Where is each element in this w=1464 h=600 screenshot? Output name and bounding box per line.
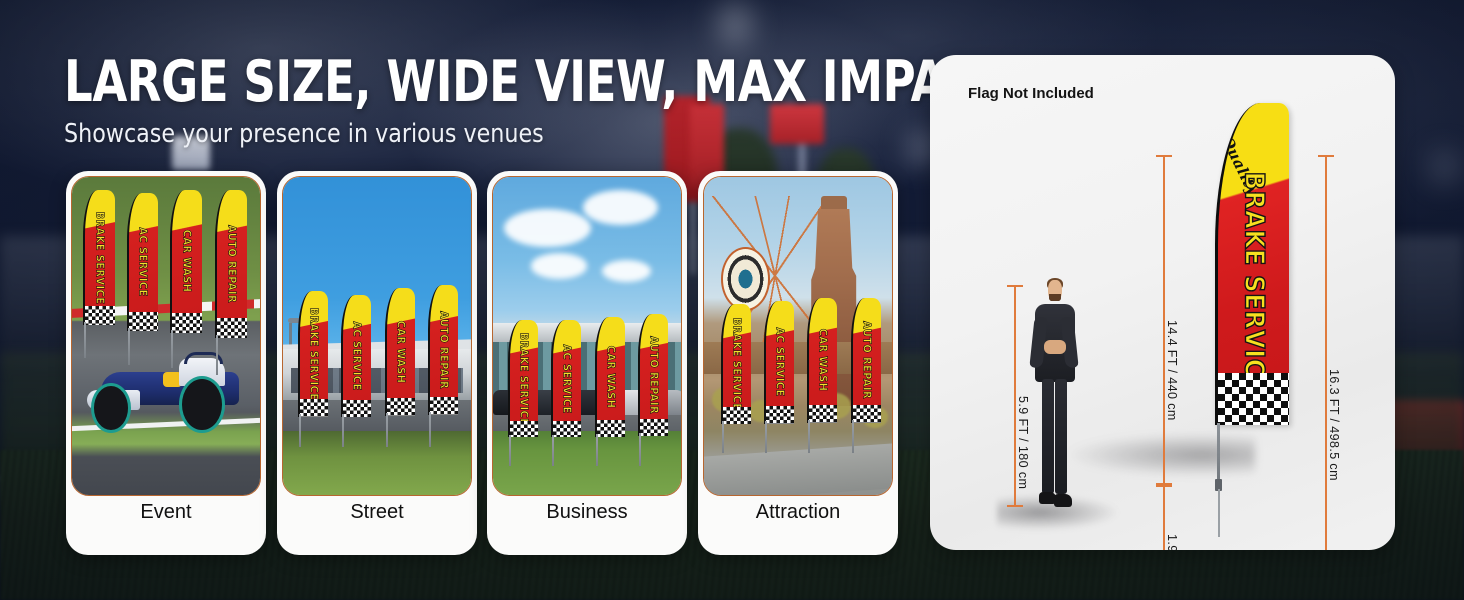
mini-flag-group-event: BRAKE SERVICE BRAKE SERVICE AC SERVICE [72, 177, 260, 495]
page-subtitle: Showcase your presence in various venues [64, 117, 544, 151]
mini-flag-checker [723, 407, 751, 424]
mini-flag-checker [129, 312, 159, 331]
mini-flag-text: CAR WASH [604, 346, 617, 409]
mini-flag-banner: AUTO REPAIR [428, 285, 458, 415]
mini-flag-checker [430, 397, 458, 415]
mini-flag-pole [552, 435, 554, 466]
mini-flag: AUTO REPAIR [851, 298, 881, 451]
mini-flag-checker [217, 318, 247, 339]
mini-flag-banner: AUTO REPAIR [215, 190, 247, 339]
mini-flag-banner: CAR WASH [385, 288, 415, 416]
flag-pole-lower [1218, 489, 1220, 537]
flag-main-text: BRAKE SERVICE [1238, 172, 1269, 395]
mini-flag-banner: BRAKE SERVICE BRAKE SERVICE [83, 190, 115, 326]
mini-flag-text: AC SERVICE [774, 328, 787, 397]
mini-flag-checker [853, 405, 881, 423]
venue-card-label: Attraction [698, 501, 898, 524]
mini-flag-banner: BRAKE SERVICE [298, 291, 328, 416]
dimension-line [1325, 155, 1327, 550]
mini-flag: CAR WASH [385, 288, 415, 444]
flag-checker-band [1218, 373, 1289, 425]
mini-flag-text: AC SERVICE [561, 344, 574, 413]
flag-banner: Quality BRAKE SERVICE [1215, 103, 1289, 425]
mini-flag-pole [722, 421, 724, 453]
mini-flag-pole [429, 412, 431, 447]
mini-flag-text: CAR WASH [817, 329, 830, 392]
mini-flag: AUTO REPAIR [638, 314, 668, 463]
person-hands [1044, 340, 1066, 354]
mini-flag-checker [510, 421, 538, 437]
mini-flag-banner: CAR WASH [595, 317, 625, 437]
mini-flag-pole [765, 421, 767, 454]
mini-flag-pole [386, 413, 388, 447]
dimension-label: 1.91 FT / 58.5 cm [1165, 534, 1179, 550]
mini-flag-group-attraction: BRAKE SERVICE AC SERVICE [704, 177, 892, 495]
flag-not-included-note: Flag Not Included [968, 85, 1094, 102]
mini-flag-group-business: BRAKE SERVICE AC SERVICE [493, 177, 681, 495]
product-feature-banner: LARGE SIZE, WIDE VIEW, MAX IMPACT Showca… [0, 0, 1464, 600]
mini-flag-pole [596, 434, 598, 466]
mini-flag-banner: AC SERVICE [127, 193, 159, 331]
mini-flag: BRAKE SERVICE BRAKE SERVICE [83, 190, 115, 355]
mini-flag-text: AUTO REPAIR [647, 336, 660, 414]
venue-card-label: Business [487, 501, 687, 524]
product-feather-flag: Quality BRAKE SERVICE [1215, 103, 1289, 503]
venue-card-event[interactable]: BRAKE SERVICE BRAKE SERVICE AC SERVICE [66, 171, 266, 555]
mini-flag-text: AUTO REPAIR [860, 321, 873, 399]
mini-flag-text: CAR WASH [180, 230, 193, 293]
venue-card-business[interactable]: BRAKE SERVICE AC SERVICE [487, 171, 687, 555]
mini-flag-pole [509, 435, 511, 466]
mini-flag-banner: AUTO REPAIR [638, 314, 668, 437]
mini-flag-checker [387, 398, 415, 416]
mini-flag-banner: AC SERVICE [551, 320, 581, 437]
mini-flag-text: AC SERVICE [137, 227, 150, 296]
mini-flag: BRAKE SERVICE [508, 320, 538, 463]
mini-flag-text: CAR WASH [394, 321, 407, 384]
mini-flag-checker [597, 420, 625, 437]
mini-flag-checker [809, 405, 837, 423]
page-title: LARGE SIZE, WIDE VIEW, MAX IMPACT [64, 48, 1008, 116]
person-shoe [1054, 494, 1072, 507]
venue-card-attraction[interactable]: BRAKE SERVICE AC SERVICE [698, 171, 898, 555]
mini-flag-banner: AUTO REPAIR [851, 298, 881, 423]
dimension-cap [1007, 285, 1023, 287]
venue-card-label: Event [66, 501, 266, 524]
flag-shadow [1065, 433, 1255, 477]
dimension-cap [1156, 485, 1172, 487]
mini-flag: CAR WASH [807, 298, 837, 451]
mini-flag-pole [299, 414, 301, 448]
mini-flag: CAR WASH [595, 317, 625, 463]
dimension-cap [1156, 155, 1172, 157]
mini-flag-text: BRAKE SERVICE [94, 211, 107, 304]
mini-flag-text: AUTO REPAIR [437, 311, 450, 389]
mini-flag: AUTO REPAIR [428, 285, 458, 444]
mini-flag-text: BRAKE SERVICE [518, 332, 531, 425]
mini-flag-banner: BRAKE SERVICE [721, 304, 751, 424]
mini-flag-pole [852, 420, 854, 454]
mini-flag: AC SERVICE [127, 193, 159, 362]
mini-flag-checker [300, 399, 328, 417]
dimension-cap [1318, 155, 1334, 157]
mini-flag-banner: AC SERVICE [764, 301, 794, 424]
mini-flag-pole [84, 322, 86, 358]
dimension-label: 16.3 FT / 498.5 cm [1327, 369, 1341, 481]
mini-flag-group-street: BRAKE SERVICE AC SERVICE [283, 177, 471, 495]
mini-flag-pole [342, 414, 344, 447]
mini-flag-text: BRAKE SERVICE [308, 308, 321, 401]
venue-photo-business: BRAKE SERVICE AC SERVICE [492, 176, 682, 496]
venue-card-label: Street [277, 501, 477, 524]
mini-flag-checker [553, 421, 581, 437]
mini-flag-text: BRAKE SERVICE [730, 318, 743, 411]
mini-flag: BRAKE SERVICE [721, 304, 751, 450]
mini-flag-checker [85, 306, 115, 325]
mini-flag-pole [128, 328, 130, 365]
mini-flag: CAR WASH [170, 190, 202, 365]
mini-flag-text: AUTO REPAIR [225, 225, 238, 303]
mini-flag-pole [171, 330, 173, 368]
mini-flag: AC SERVICE [551, 320, 581, 463]
venue-card-street[interactable]: BRAKE SERVICE AC SERVICE [277, 171, 477, 555]
mini-flag-checker [343, 400, 371, 417]
mini-flag-banner: AC SERVICE [341, 295, 371, 418]
person-leg [1042, 379, 1054, 494]
venue-photo-street: BRAKE SERVICE AC SERVICE [282, 176, 472, 496]
mini-flag-checker [766, 406, 794, 423]
mini-flag-pole [639, 433, 641, 466]
mini-flag: BRAKE SERVICE [298, 291, 328, 444]
mini-flag: AC SERVICE [764, 301, 794, 450]
size-spec-panel: Flag Not Included Quality BRAKE SERVICE [930, 55, 1395, 550]
venue-photo-event: BRAKE SERVICE BRAKE SERVICE AC SERVICE [71, 176, 261, 496]
mini-flag: AC SERVICE [341, 295, 371, 444]
mini-flag-banner: CAR WASH [170, 190, 202, 333]
mini-flag-checker [172, 313, 202, 333]
mini-flag-pole [808, 420, 810, 454]
venue-photo-attraction: BRAKE SERVICE AC SERVICE [703, 176, 893, 496]
mini-flag-checker [640, 419, 668, 436]
dimension-label: 14.4 FT / 440 cm [1165, 320, 1179, 421]
mini-flag-banner: CAR WASH [807, 298, 837, 423]
mini-flag-banner: BRAKE SERVICE [508, 320, 538, 437]
dimension-label: 5.9 FT / 180 cm [1016, 396, 1030, 489]
dimension-cap [1007, 505, 1023, 507]
mini-flag-pole [216, 335, 218, 375]
mini-flag: AUTO REPAIR [215, 190, 247, 371]
mini-flag-text: AC SERVICE [351, 321, 364, 390]
